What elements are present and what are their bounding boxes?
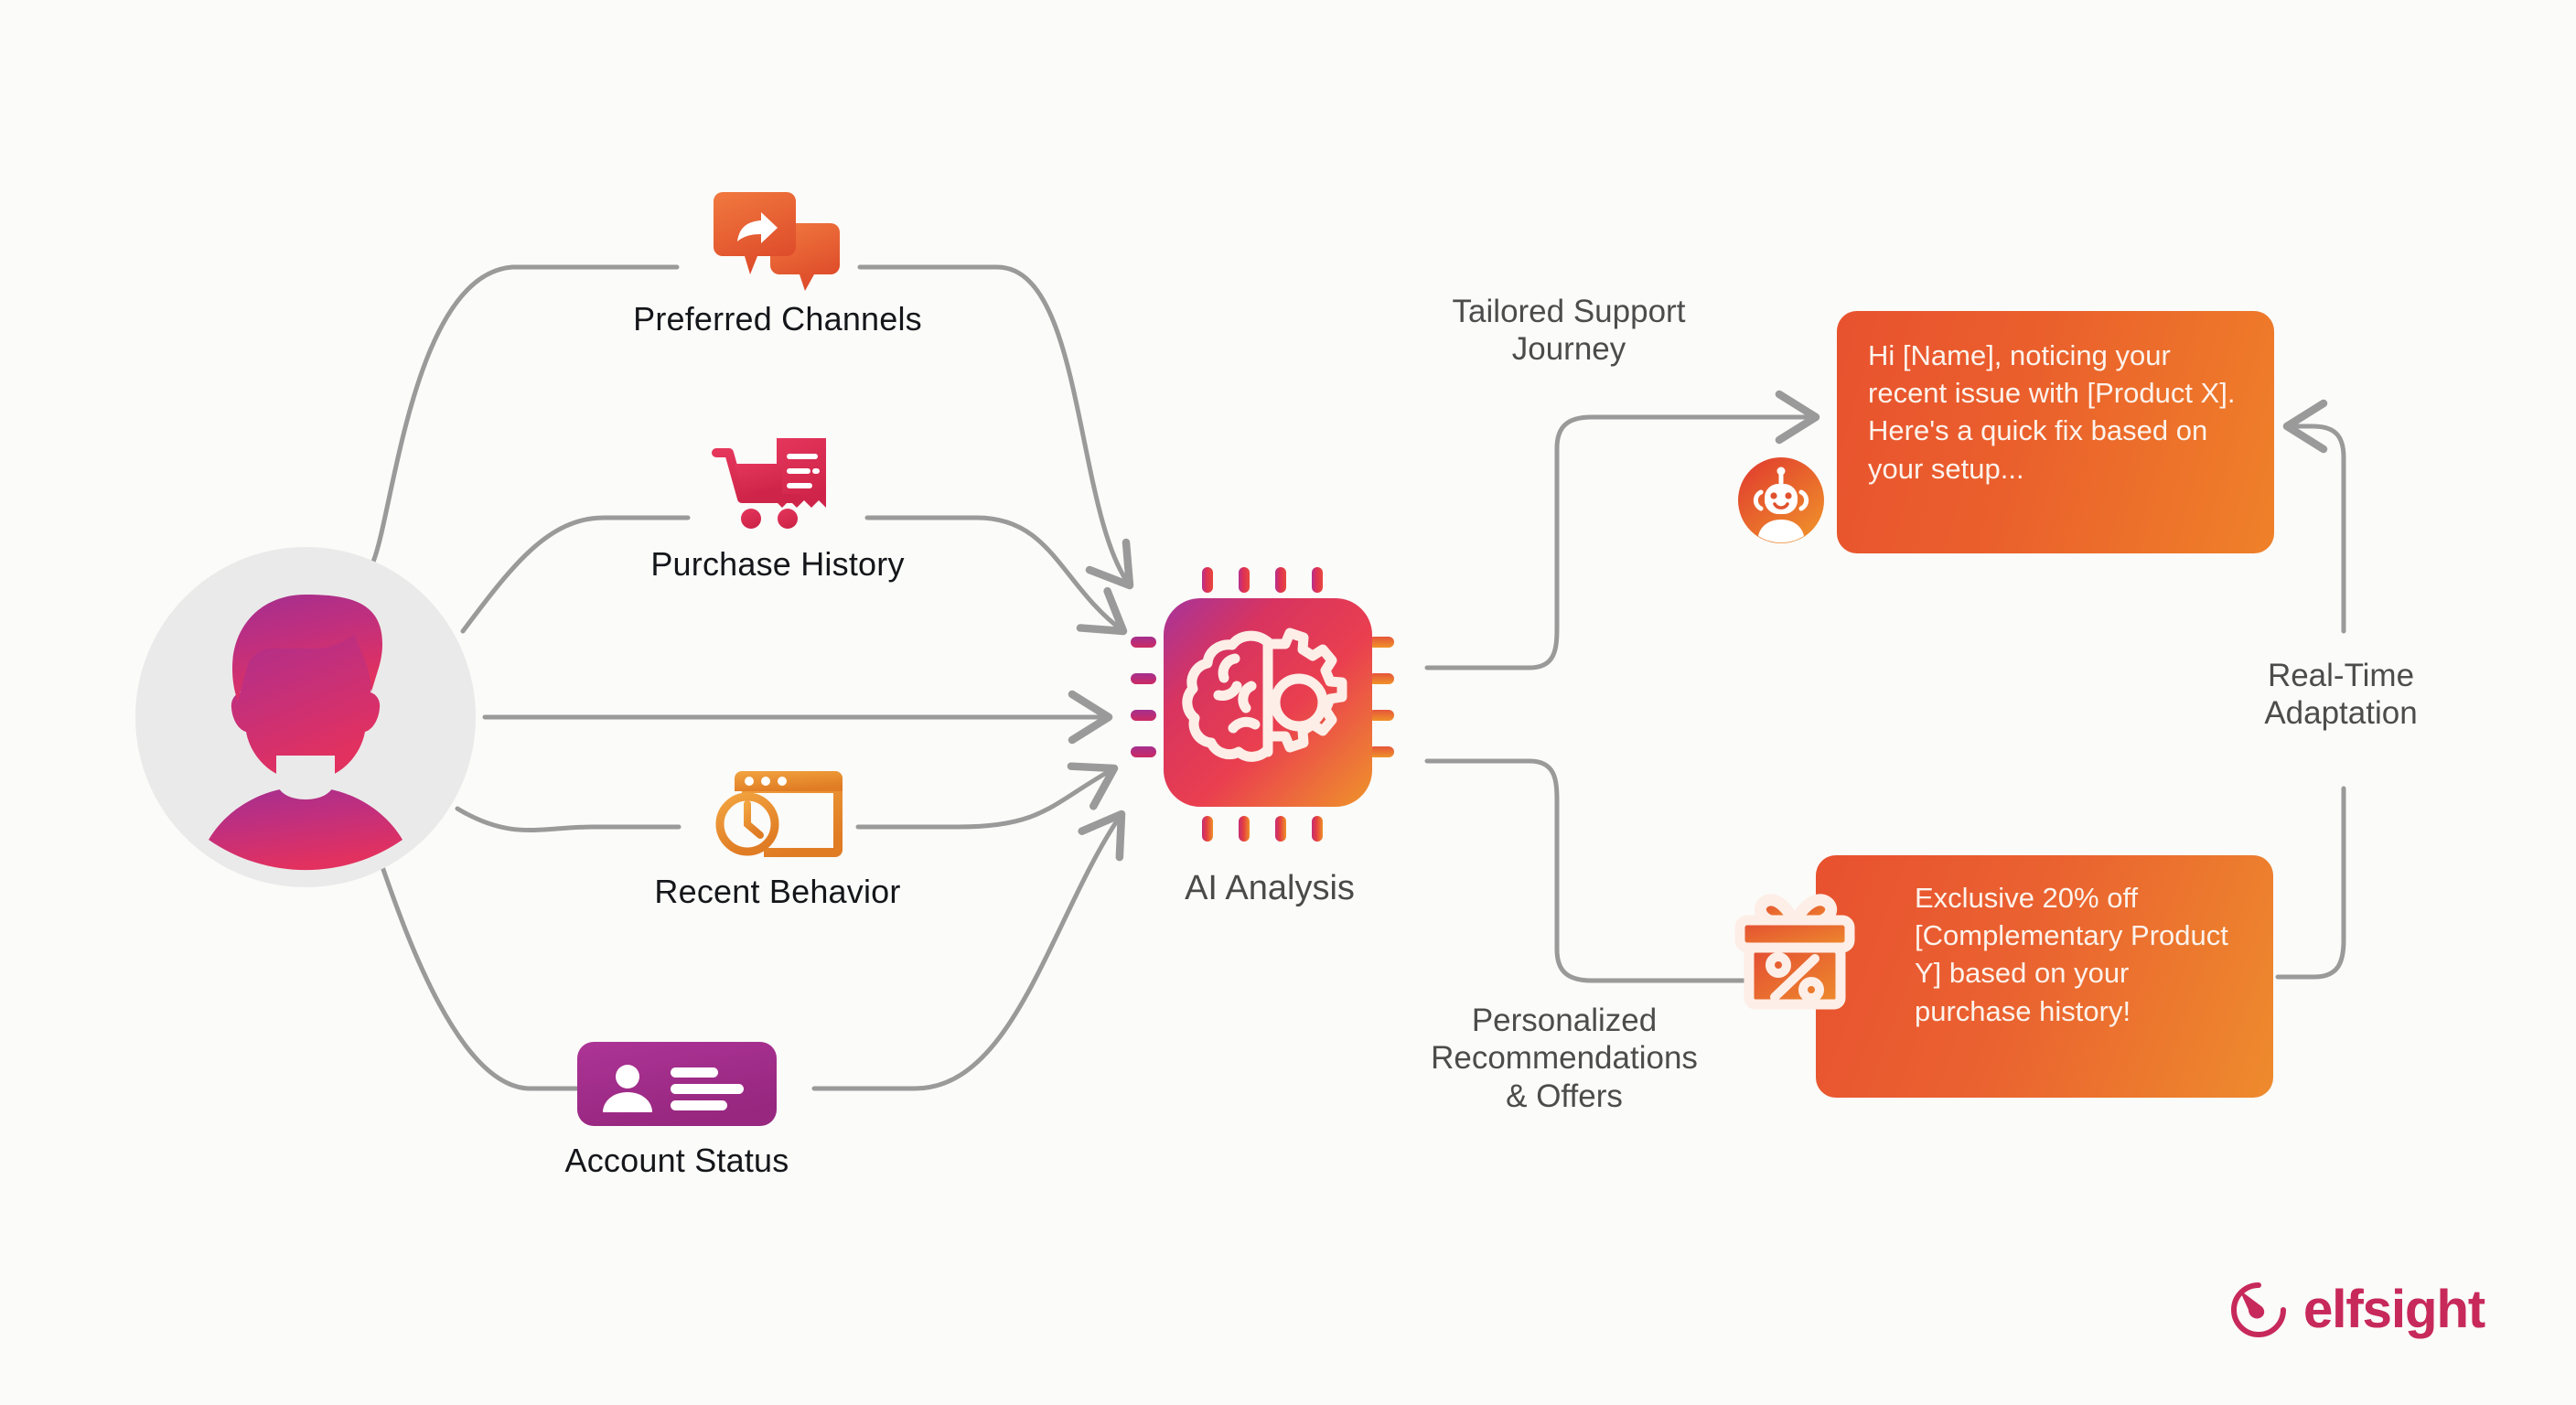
offer-message-bubble: Exclusive 20% off [Complementary Product… bbox=[1816, 855, 2273, 1098]
flow-label-realtime-adaptation: Real-Time Adaptation bbox=[2186, 651, 2495, 738]
elfsight-swoosh-icon bbox=[2230, 1282, 2287, 1338]
ai-analysis-label: AI Analysis bbox=[1087, 869, 1453, 908]
diagram-canvas: Preferred Channels bbox=[0, 0, 2576, 1405]
shopping-cart-receipt-icon bbox=[585, 437, 970, 538]
gift-percent-icon bbox=[1718, 871, 1872, 1024]
wire-realtime-feedback-lower bbox=[2278, 788, 2344, 977]
flow-label-line: Journey bbox=[1377, 330, 1761, 368]
flow-label-line: Tailored Support bbox=[1377, 293, 1761, 330]
user-avatar-icon bbox=[135, 547, 476, 887]
brand-logo[interactable]: elfsight bbox=[2230, 1279, 2485, 1340]
brain-gear-chip-icon bbox=[1123, 558, 1416, 851]
chat-share-bubbles-icon bbox=[585, 192, 970, 293]
flow-label-line: & Offers bbox=[1368, 1078, 1761, 1115]
support-message-bubble: Hi [Name], noticing your recent issue wi… bbox=[1837, 311, 2274, 553]
customer-avatar bbox=[135, 547, 476, 887]
wire-realtime-feedback-upper bbox=[2287, 426, 2344, 631]
attribute-label: Purchase History bbox=[585, 545, 970, 584]
attribute-purchase-history: Purchase History bbox=[585, 437, 970, 584]
attribute-account-status: Account Status bbox=[485, 1034, 869, 1180]
flow-label-line: Recommendations bbox=[1368, 1039, 1761, 1077]
flow-label-personalized-offers: Personalized Recommendations & Offers bbox=[1368, 1002, 1761, 1115]
flow-label-line: Adaptation bbox=[2190, 694, 2492, 732]
attribute-label: Account Status bbox=[485, 1142, 869, 1180]
flow-label-line: Personalized bbox=[1368, 1002, 1761, 1039]
ai-analysis-chip bbox=[1123, 558, 1416, 851]
attribute-label: Recent Behavior bbox=[585, 873, 970, 911]
attribute-recent-behavior: Recent Behavior bbox=[585, 765, 970, 911]
attribute-preferred-channels: Preferred Channels bbox=[585, 192, 970, 338]
id-card-icon bbox=[485, 1034, 869, 1134]
flow-label-tailored-support: Tailored Support Journey bbox=[1377, 293, 1761, 369]
browser-window-clock-icon bbox=[585, 765, 970, 865]
attribute-label: Preferred Channels bbox=[585, 300, 970, 338]
brand-name: elfsight bbox=[2303, 1279, 2485, 1340]
flow-label-line: Real-Time bbox=[2190, 657, 2492, 694]
robot-avatar-icon bbox=[1736, 456, 1826, 545]
